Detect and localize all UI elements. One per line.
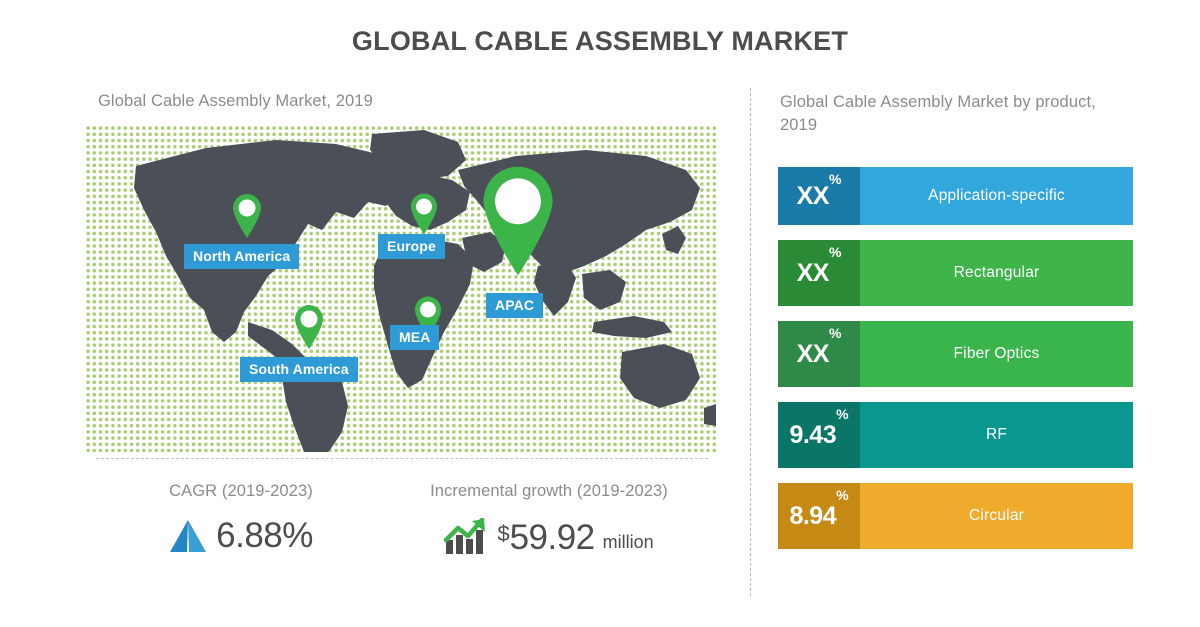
kpi-growth-value: 59.92 bbox=[510, 520, 595, 555]
map-pin-europe[interactable] bbox=[410, 193, 438, 235]
bar-row[interactable]: 9.43% RF bbox=[778, 402, 1133, 468]
map-pin-north-america[interactable] bbox=[232, 194, 262, 238]
bar-percent-value: XX bbox=[797, 342, 829, 367]
map-pin-south-america[interactable] bbox=[294, 305, 324, 349]
bar-label: Fiber Optics bbox=[860, 321, 1133, 387]
bar-label: Circular bbox=[860, 483, 1133, 549]
kpi-cagr: CAGR (2019-2023) 6.88% bbox=[96, 482, 386, 553]
bar-percent-sign: % bbox=[829, 244, 841, 260]
map-label-europe[interactable]: Europe bbox=[378, 234, 445, 259]
bar-percent-badge: XX% bbox=[778, 167, 860, 225]
right-panel-subtitle: Global Cable Assembly Market by product,… bbox=[780, 91, 1130, 138]
bar-percent-value: XX bbox=[797, 184, 829, 209]
bar-percent-badge: XX% bbox=[778, 321, 860, 387]
bar-percent-sign: % bbox=[836, 487, 848, 503]
bar-row[interactable]: XX% Fiber Optics bbox=[778, 321, 1133, 387]
left-panel-subtitle: Global Cable Assembly Market, 2019 bbox=[98, 92, 373, 111]
bar-row[interactable]: XX% Application-specific bbox=[778, 167, 1133, 225]
product-share-bar-list: XX% Application-specific XX% Rectangular… bbox=[778, 167, 1133, 564]
triangle-up-icon bbox=[169, 519, 207, 553]
bar-percent-value: XX bbox=[797, 261, 829, 286]
map-label-apac[interactable]: APAC bbox=[486, 293, 543, 318]
bar-percent-badge: XX% bbox=[778, 240, 860, 306]
bar-percent-value: 9.43 bbox=[789, 423, 836, 448]
map-label-mea[interactable]: MEA bbox=[390, 325, 439, 350]
bar-row[interactable]: XX% Rectangular bbox=[778, 240, 1133, 306]
map-pin-apac[interactable] bbox=[481, 165, 555, 277]
bar-percent-value: 8.94 bbox=[789, 504, 836, 529]
kpi-growth-currency: $ bbox=[497, 518, 509, 547]
bar-percent-badge: 9.43% bbox=[778, 402, 860, 468]
growth-chart-arrow-icon bbox=[444, 518, 488, 556]
bar-percent-badge: 8.94% bbox=[778, 483, 860, 549]
map-label-north-america[interactable]: North America bbox=[184, 244, 299, 269]
bar-label: RF bbox=[860, 402, 1133, 468]
bar-percent-sign: % bbox=[836, 406, 848, 422]
kpi-growth-unit: million bbox=[603, 532, 654, 556]
kpi-growth-label: Incremental growth (2019-2023) bbox=[384, 482, 714, 501]
kpi-cagr-value: 6.88% bbox=[216, 518, 313, 553]
kpi-cagr-label: CAGR (2019-2023) bbox=[96, 482, 386, 501]
world-map bbox=[86, 126, 716, 452]
bar-row[interactable]: 8.94% Circular bbox=[778, 483, 1133, 549]
bar-label: Rectangular bbox=[860, 240, 1133, 306]
bar-label: Application-specific bbox=[860, 167, 1133, 225]
left-panel: Global Cable Assembly Market, 2019 bbox=[0, 0, 750, 627]
kpi-incremental-growth: Incremental growth (2019-2023) $ 59.92 m… bbox=[384, 482, 714, 556]
right-panel: Global Cable Assembly Market by product,… bbox=[750, 0, 1200, 627]
map-label-south-america[interactable]: South America bbox=[240, 357, 358, 382]
bar-percent-sign: % bbox=[829, 171, 841, 187]
bar-percent-sign: % bbox=[829, 325, 841, 341]
